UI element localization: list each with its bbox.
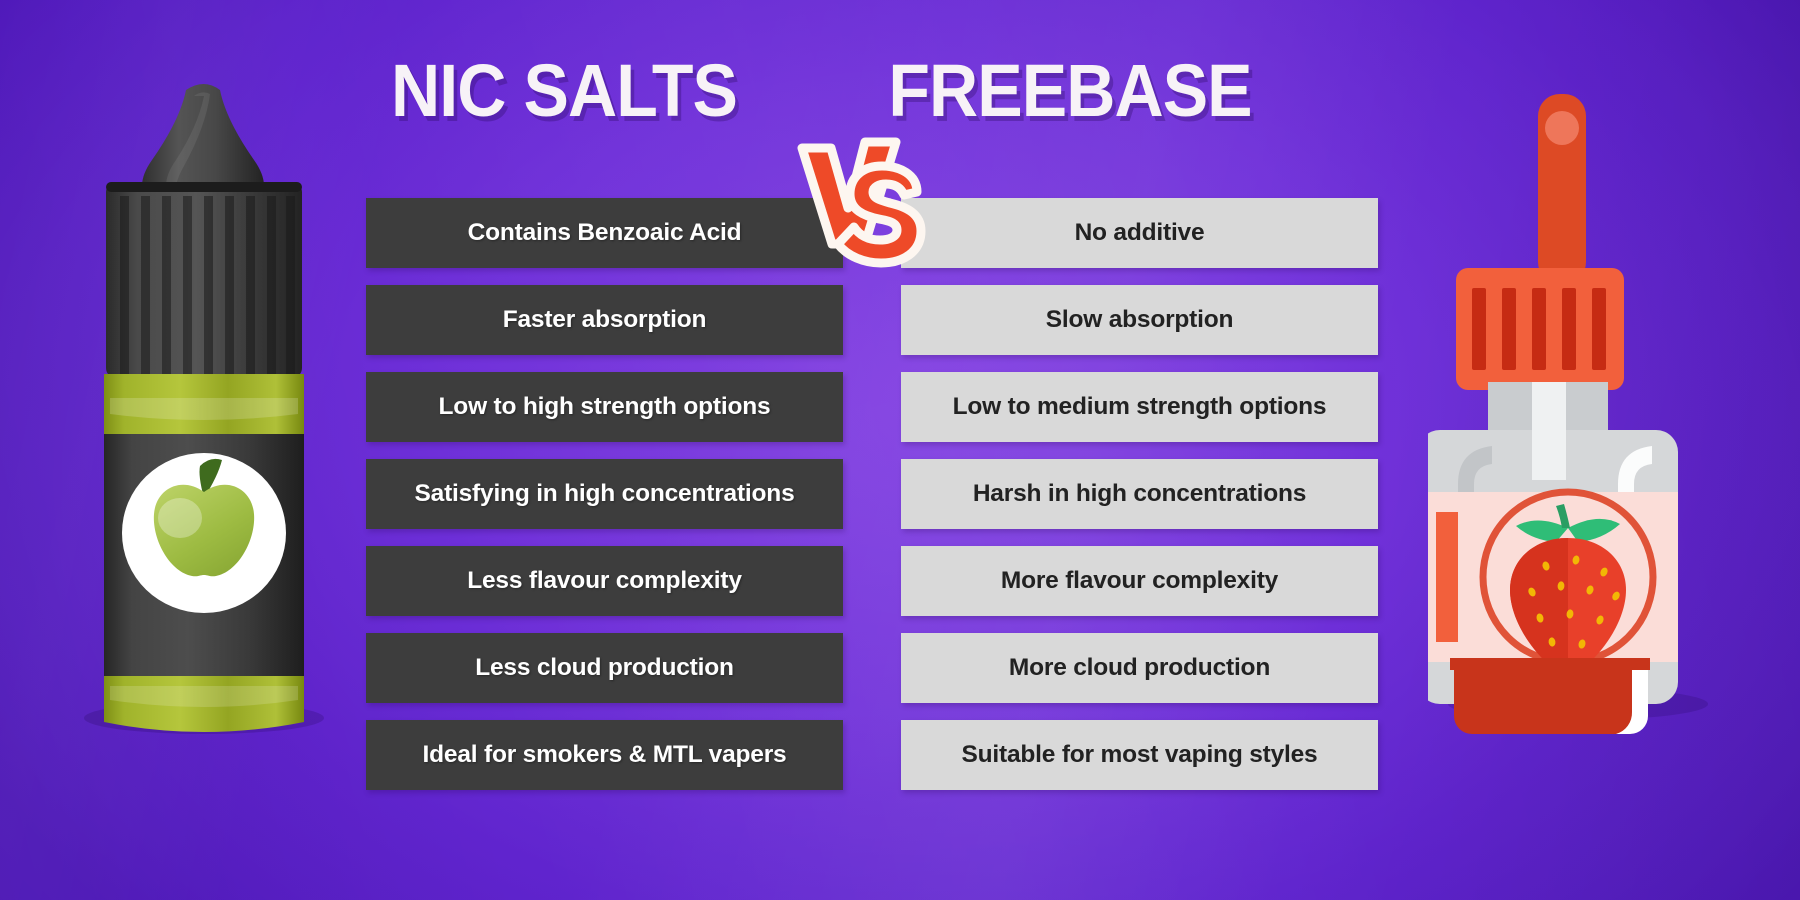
comparison-column-freebase: No additive Slow absorption Low to mediu… [901, 198, 1378, 807]
heading-freebase: FREEBASE [812, 48, 1327, 133]
table-row: Slow absorption [901, 285, 1378, 355]
comparison-column-nic-salts: Contains Benzoaic Acid Faster absorption… [366, 198, 843, 807]
band-gloss [110, 398, 298, 420]
base-band-top [1450, 658, 1650, 670]
table-row: Low to high strength options [366, 372, 843, 442]
heading-nic-salts: NIC SALTS [343, 48, 785, 133]
cap-ribs [120, 196, 295, 374]
table-row: Ideal for smokers & MTL vapers [366, 720, 843, 790]
table-row: More cloud production [901, 633, 1378, 703]
bottle-nozzle [142, 84, 264, 186]
table-row: Satisfying in high concentrations [366, 459, 843, 529]
label-stripe [1436, 512, 1458, 642]
bottle-base-red [1454, 670, 1646, 734]
neck-highlight [1532, 382, 1566, 430]
cap-top-edge [106, 182, 302, 192]
freebase-bottle-illustration [1428, 80, 1728, 810]
table-row: Less flavour complexity [366, 546, 843, 616]
table-row: Contains Benzoaic Acid [366, 198, 843, 268]
nic-salts-bottle-illustration [76, 78, 326, 798]
table-row: More flavour complexity [901, 546, 1378, 616]
table-row: No additive [901, 198, 1378, 268]
glass-highlight-strip [1532, 430, 1566, 480]
table-row: Suitable for most vaping styles [901, 720, 1378, 790]
table-row: Harsh in high concentrations [901, 459, 1378, 529]
table-row: Faster absorption [366, 285, 843, 355]
table-row: Low to medium strength options [901, 372, 1378, 442]
infographic-canvas: NIC SALTS FREEBASE Contains Benzoaic Aci… [0, 0, 1800, 900]
dropper-bulb-highlight [1545, 111, 1579, 145]
table-row: Less cloud production [366, 633, 843, 703]
